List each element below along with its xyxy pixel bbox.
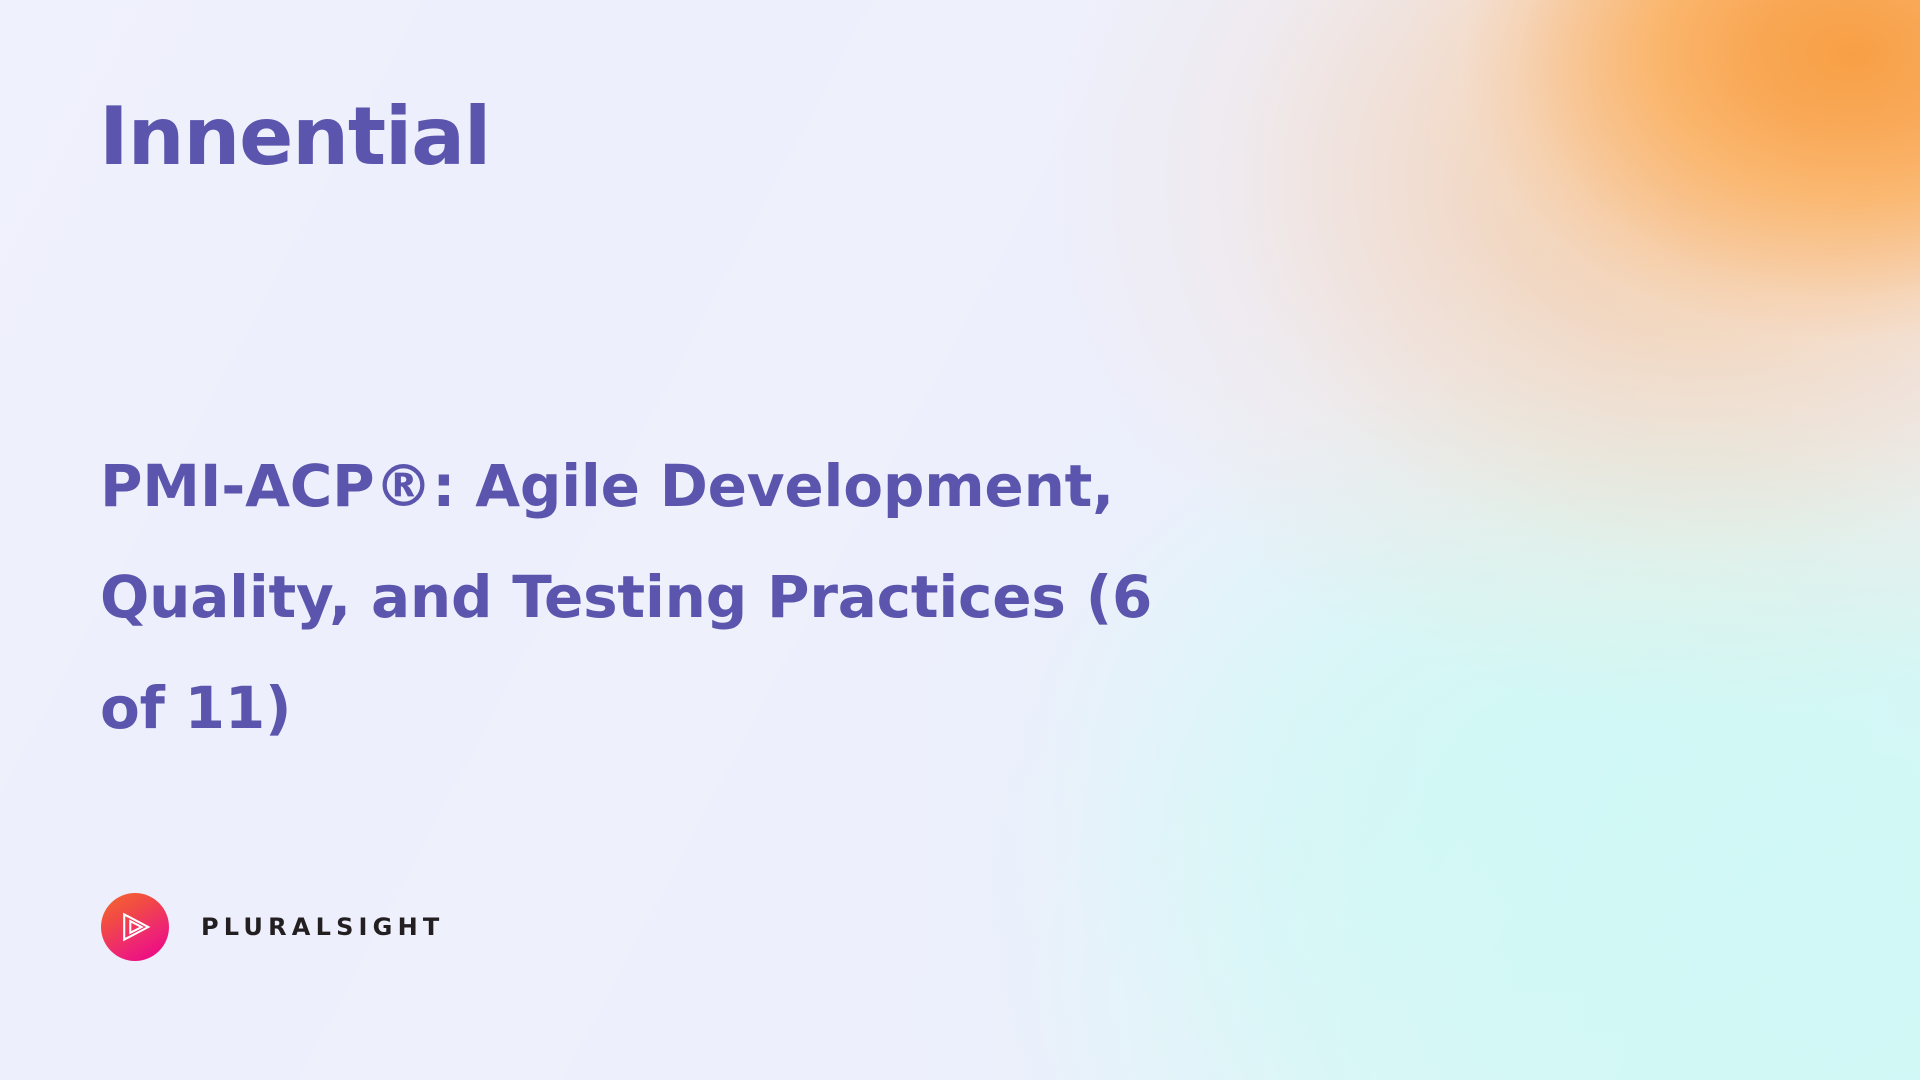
provider-logo-lockup: PLURALSIGHT: [101, 893, 444, 961]
provider-name: PLURALSIGHT: [201, 913, 444, 941]
course-title-line-1: PMI-ACP®: Agile Development,: [100, 431, 1430, 542]
course-title-card: Innential PMI-ACP®: Agile Development, Q…: [0, 0, 1920, 1080]
course-title-line-3: of 11): [100, 653, 1430, 764]
brand-logo-text: Innential: [99, 95, 490, 179]
course-title: PMI-ACP®: Agile Development, Quality, an…: [100, 431, 1430, 764]
pluralsight-play-icon: [101, 893, 169, 961]
course-title-line-2: Quality, and Testing Practices (6: [100, 542, 1430, 653]
